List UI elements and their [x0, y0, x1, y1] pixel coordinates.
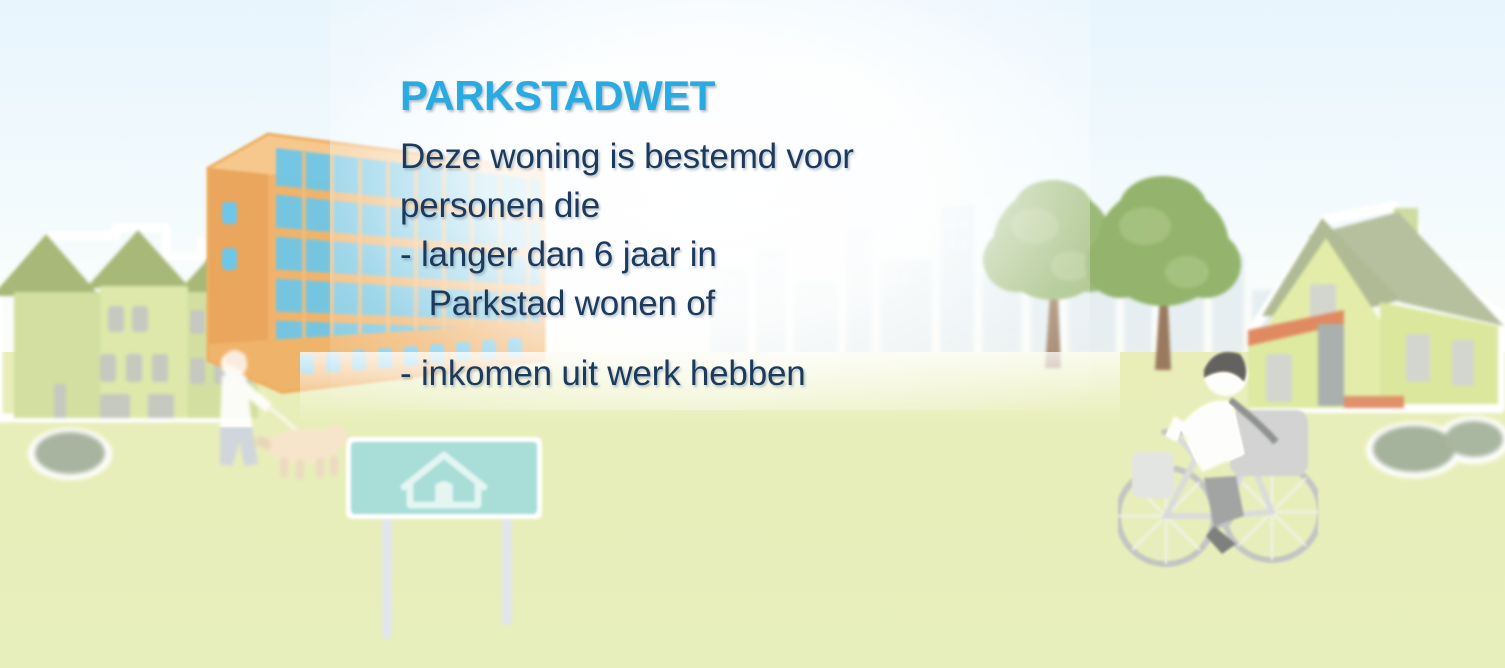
sign-board — [338, 435, 556, 650]
poster-line-2: personen die — [400, 181, 1020, 230]
dog-walker — [186, 342, 346, 482]
poster-line-3: - langer dan 6 jaar in — [400, 230, 1020, 279]
page-title: PARKSTADWET — [400, 72, 1020, 120]
bush-right — [1362, 408, 1505, 480]
poster-line-4: Parkstad wonen of — [400, 279, 1020, 328]
bush-left — [20, 420, 120, 482]
poster-line-5: - inkomen uit werk hebben — [400, 349, 1020, 398]
poster-canvas: PARKSTADWET Deze woning is bestemd voor … — [0, 0, 1505, 668]
poster-line-1: Deze woning is bestemd voor — [400, 132, 1020, 181]
cyclist — [1118, 330, 1318, 582]
poster-text-block: PARKSTADWET Deze woning is bestemd voor … — [400, 72, 1020, 398]
